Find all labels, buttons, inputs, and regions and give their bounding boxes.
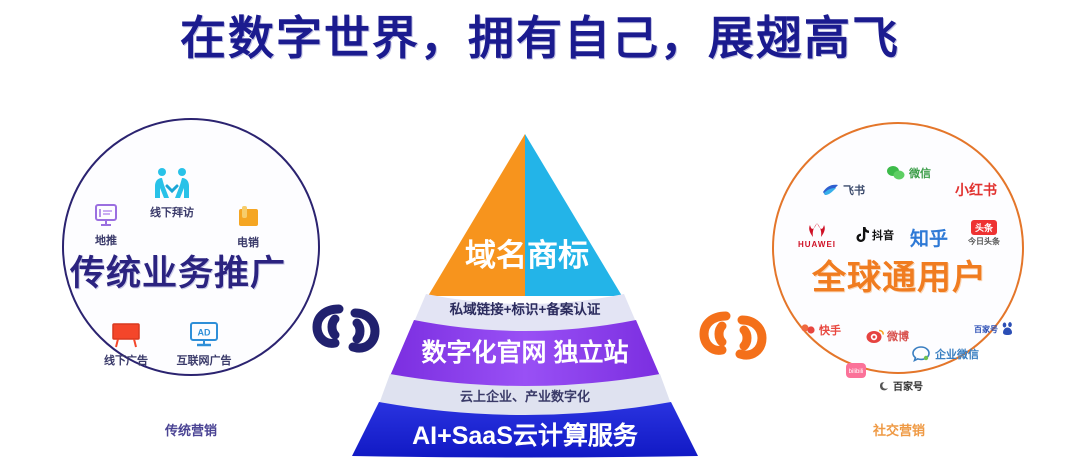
logo-kuaishou: 快手 [800, 322, 841, 338]
logo-label: HUAWEI [798, 240, 836, 249]
logo-label: 百家号 [974, 324, 998, 335]
wecom-icon [912, 345, 932, 363]
pyramid-separator-lower-label: 云上企业、产业数字化 [460, 389, 590, 404]
logo-baijiahao: 百家号 [878, 378, 923, 393]
kuaishou-icon [800, 323, 816, 337]
logo-bilibili: bilibili [845, 360, 867, 380]
svg-text:AD: AD [198, 328, 211, 338]
page-title: 在数字世界，拥有自己，展翅高飞 [0, 2, 1080, 68]
logo-weibo: 微博 [866, 328, 909, 344]
baidu-icon [1001, 322, 1015, 336]
monitor-icon [70, 196, 142, 230]
logo-douyin: 抖音 [854, 226, 894, 243]
logo-label: 飞书 [843, 182, 865, 198]
wechat-icon [886, 165, 906, 181]
logo-label: 今日头条 [968, 236, 1000, 247]
chain-link-icon-right [692, 292, 778, 378]
pyramid-separator-upper-label: 私域链接+标识+备案认证 [450, 301, 601, 317]
billboard-icon [90, 316, 162, 350]
feature-label: 线下广告 [90, 352, 162, 368]
logo-xiaohongshu: 小红书 [955, 180, 997, 200]
feature-offline-visit: 线下拜访 [136, 168, 208, 220]
logo-huawei: HUAWEI [798, 222, 836, 249]
logo-label: 企业微信 [935, 346, 979, 362]
feature-label: 互联网广告 [168, 352, 240, 368]
feature-label: 线下拜访 [136, 204, 208, 220]
feature-ditui: 地推 [70, 196, 142, 248]
right-circle-heading: 全球通用户 [762, 250, 1037, 299]
logo-baidu: 百家号 [974, 322, 1015, 336]
ad-monitor-icon: AD [168, 316, 240, 350]
pyramid-apex-right-label: 商标 [527, 238, 589, 273]
weibo-icon [866, 329, 884, 344]
pyramid-base-label: AI+SaaS云计算服务 [412, 421, 638, 450]
logo-label: 知乎 [910, 224, 948, 251]
toutiao-icon: 头条 [971, 220, 997, 235]
svg-text:bilibili: bilibili [849, 369, 864, 375]
feature-telesales: 电销 [212, 198, 284, 250]
feature-offline-ad: 线下广告 [90, 316, 162, 368]
logo-wecom: 企业微信 [912, 345, 979, 363]
logo-feishu: 飞书 [822, 182, 865, 198]
left-circle-heading: 传统业务推广 [28, 245, 328, 296]
logo-label: 快手 [819, 322, 841, 338]
logo-label: 百家号 [893, 378, 923, 393]
bilibili-icon: bilibili [845, 360, 867, 380]
logo-label: 抖音 [872, 227, 894, 243]
feishu-icon [822, 183, 840, 197]
baijiahao-icon [878, 380, 890, 392]
logo-label: 小红书 [955, 180, 997, 200]
infographic-canvas: 在数字世界，拥有自己，展翅高飞 地推 线下拜访 [0, 0, 1080, 459]
right-circle-caption: 社交营销 [772, 420, 1026, 439]
left-circle-caption: 传统营销 [60, 420, 322, 439]
logo-wechat: 微信 [886, 165, 931, 181]
phone-icon [212, 198, 284, 232]
chain-link-icon-left [305, 285, 391, 371]
handshake-people-icon [136, 168, 208, 202]
douyin-icon [854, 226, 869, 243]
logo-label: 微信 [909, 165, 931, 181]
logo-label: 微博 [887, 328, 909, 344]
pyramid-apex-left-label: 域名 [465, 238, 527, 273]
feature-internet-ad: AD 互联网广告 [168, 316, 240, 368]
huawei-icon [804, 222, 830, 240]
logo-toutiao: 头条 今日头条 [968, 220, 1000, 247]
pyramid-middle-label: 数字化官网 独立站 [422, 338, 629, 367]
logo-zhihu: 知乎 [910, 224, 948, 251]
